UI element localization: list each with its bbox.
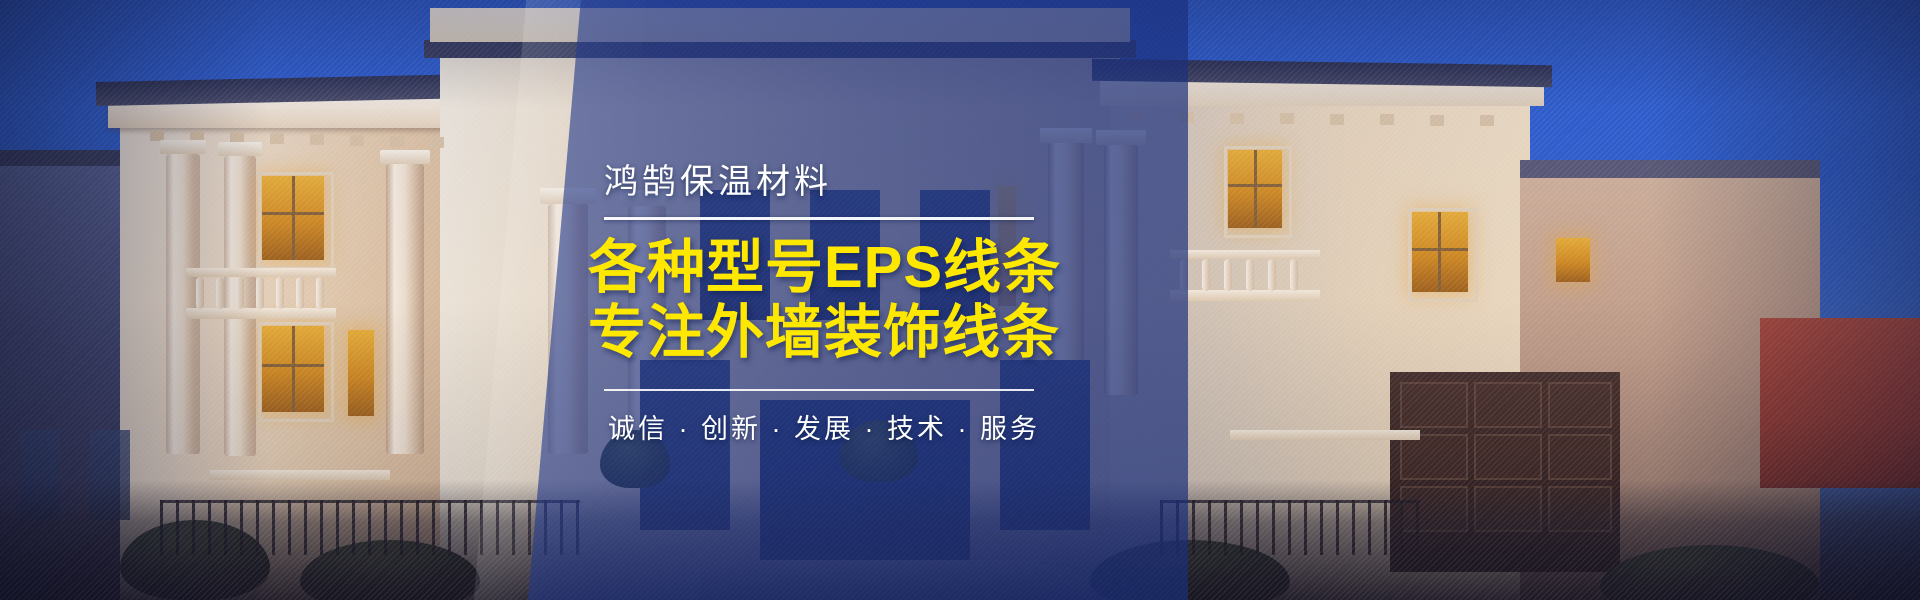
headline-line-2: 专注外墙装饰线条: [588, 301, 1060, 366]
tagline-divider-rule: [604, 389, 1034, 391]
brand-divider-rule: [604, 217, 1034, 220]
tagline: 诚信 · 创新 · 发展 · 技术 · 服务: [608, 407, 1040, 446]
promotional-banner: 鸿鹄保温材料 各种型号EPS线条 专注外墙装饰线条 诚信 · 创新 · 发展 ·…: [0, 0, 1920, 600]
banner-copy-block: 鸿鹄保温材料 各种型号EPS线条 专注外墙装饰线条 诚信 · 创新 · 发展 ·…: [528, 0, 1188, 600]
brand-name: 鸿鹄保温材料: [604, 154, 832, 203]
headline-line-1: 各种型号EPS线条: [588, 236, 1061, 301]
